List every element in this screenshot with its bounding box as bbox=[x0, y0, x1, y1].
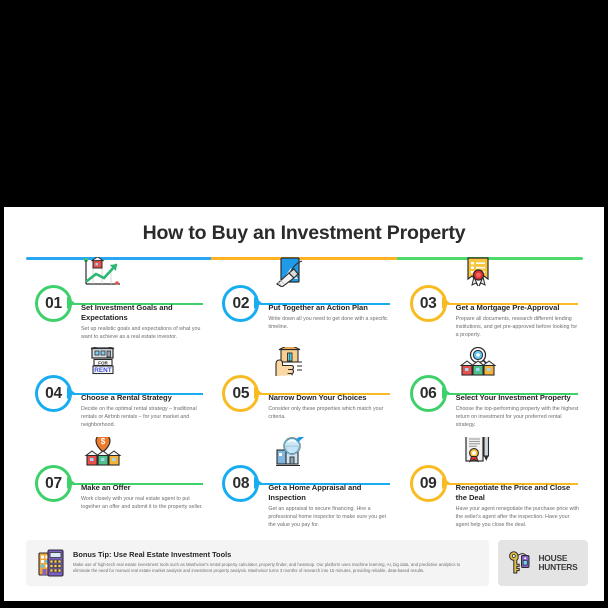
target-houses-icon bbox=[457, 347, 499, 377]
for-rent-sign-icon: FOR RENT bbox=[82, 347, 124, 377]
step-badge-pointer bbox=[254, 297, 262, 309]
step-heading: Narrow Down Your Choices bbox=[268, 393, 393, 403]
price-pin-houses-icon: $ bbox=[82, 437, 124, 467]
step-card-01: 01 Set Investment Goals and Expectations… bbox=[26, 259, 213, 349]
step-number: 04 bbox=[45, 386, 62, 402]
step-badge-pointer bbox=[67, 297, 75, 309]
step-card-04: FOR RENT 04 Choose a Rental Strategy Dec… bbox=[26, 349, 213, 439]
step-badge-pointer bbox=[442, 387, 450, 399]
step-body: Prepare all documents, research differen… bbox=[456, 315, 581, 339]
step-heading: Get a Mortgage Pre-Approval bbox=[456, 303, 581, 313]
step-text: Narrow Down Your Choices Consider only t… bbox=[268, 393, 393, 421]
magnifier-house-inspection-icon bbox=[269, 437, 311, 467]
step-number: 01 bbox=[45, 296, 62, 312]
step-text: Put Together an Action Plan Write down a… bbox=[268, 303, 393, 331]
step-text: Get a Mortgage Pre-Approval Prepare all … bbox=[456, 303, 581, 339]
certificate-seal-icon bbox=[457, 257, 499, 287]
bonus-tip-heading: Bonus Tip: Use Real Estate Investment To… bbox=[73, 551, 477, 560]
step-badge-pointer bbox=[67, 387, 75, 399]
step-text: Make an Offer Work closely with your rea… bbox=[81, 483, 206, 511]
step-body: Get an appraisal to secure financing. Hi… bbox=[268, 505, 393, 529]
step-number: 08 bbox=[233, 476, 250, 492]
step-body: Set up realistic goals and expectations … bbox=[81, 325, 206, 341]
brand-logo-line2: HUNTERS bbox=[538, 563, 577, 572]
growth-chart-house-icon bbox=[82, 257, 124, 287]
step-number: 07 bbox=[45, 476, 62, 492]
step-card-06: 06 Select Your Investment Property Choos… bbox=[401, 349, 588, 439]
hand-pointing-house-icon bbox=[269, 347, 311, 377]
step-body: Consider only these properties which mat… bbox=[268, 405, 393, 421]
step-number: 09 bbox=[420, 476, 437, 492]
step-number: 02 bbox=[233, 296, 250, 312]
screenshot-stage: How to Buy an Investment Property 01 S bbox=[0, 0, 608, 608]
step-body: Work closely with your real estate agent… bbox=[81, 495, 206, 511]
step-card-08: 08 Get a Home Appraisal and Inspection G… bbox=[213, 439, 400, 529]
step-card-05: 05 Narrow Down Your Choices Consider onl… bbox=[213, 349, 400, 439]
step-card-09: 09 Renegotiate the Price and Close the D… bbox=[401, 439, 588, 529]
brand-logo: HOUSE HUNTERS bbox=[498, 540, 588, 586]
step-badge-pointer bbox=[442, 477, 450, 489]
page-title: How to Buy an Investment Property bbox=[4, 224, 604, 244]
step-text: Set Investment Goals and Expectations Se… bbox=[81, 303, 206, 341]
svg-text:$: $ bbox=[101, 437, 106, 446]
step-heading: Renegotiate the Price and Close the Deal bbox=[456, 483, 581, 502]
steps-grid: 01 Set Investment Goals and Expectations… bbox=[26, 259, 588, 529]
step-text: Renegotiate the Price and Close the Deal… bbox=[456, 483, 581, 529]
step-card-03: 03 Get a Mortgage Pre-Approval Prepare a… bbox=[401, 259, 588, 349]
calculator-house-icon bbox=[38, 549, 64, 577]
infographic-poster: How to Buy an Investment Property 01 S bbox=[4, 207, 604, 601]
step-badge-pointer bbox=[442, 297, 450, 309]
svg-text:RENT: RENT bbox=[94, 367, 111, 374]
step-heading: Select Your Investment Property bbox=[456, 393, 581, 403]
step-heading: Make an Offer bbox=[81, 483, 206, 493]
step-number: 03 bbox=[420, 296, 437, 312]
step-body: Write down all you need to get done with… bbox=[268, 315, 393, 331]
step-card-07: $ 07 Make an Offer Work closely with you… bbox=[26, 439, 213, 529]
bonus-tip-text: Bonus Tip: Use Real Estate Investment To… bbox=[73, 551, 477, 575]
action-plan-document-icon bbox=[269, 257, 311, 287]
bonus-tip-body: Make use of high-tech real estate invest… bbox=[73, 562, 477, 575]
step-body: Choose the top-performing property with … bbox=[456, 405, 581, 429]
step-badge-pointer bbox=[254, 387, 262, 399]
key-tag-icon bbox=[508, 549, 534, 577]
step-body: Have your agent renegotiate the purchase… bbox=[456, 505, 581, 529]
step-text: Choose a Rental Strategy Decide on the o… bbox=[81, 393, 206, 429]
bonus-tip-strip: Bonus Tip: Use Real Estate Investment To… bbox=[26, 540, 588, 586]
step-number: 06 bbox=[420, 386, 437, 402]
contract-pen-icon bbox=[457, 437, 499, 467]
step-body: Decide on the optimal rental strategy – … bbox=[81, 405, 206, 429]
step-heading: Choose a Rental Strategy bbox=[81, 393, 206, 403]
step-badge-pointer bbox=[254, 477, 262, 489]
step-text: Select Your Investment Property Choose t… bbox=[456, 393, 581, 429]
svg-text:FOR: FOR bbox=[98, 360, 108, 365]
brand-logo-text: HOUSE HUNTERS bbox=[538, 554, 577, 573]
step-heading: Get a Home Appraisal and Inspection bbox=[268, 483, 393, 502]
step-heading: Set Investment Goals and Expectations bbox=[81, 303, 206, 322]
bonus-tip-card: Bonus Tip: Use Real Estate Investment To… bbox=[26, 540, 489, 586]
step-heading: Put Together an Action Plan bbox=[268, 303, 393, 313]
step-text: Get a Home Appraisal and Inspection Get … bbox=[268, 483, 393, 529]
step-card-02: 02 Put Together an Action Plan Write dow… bbox=[213, 259, 400, 349]
step-number: 05 bbox=[233, 386, 250, 402]
step-badge-pointer bbox=[67, 477, 75, 489]
